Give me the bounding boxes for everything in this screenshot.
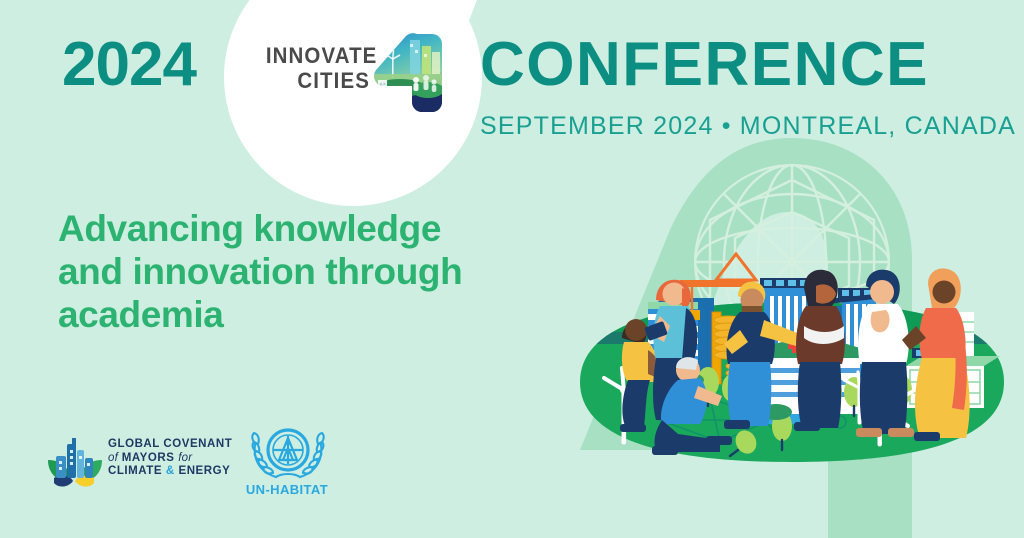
headline-line-3: academia bbox=[58, 293, 558, 336]
gcom-mayors: MAYORS bbox=[122, 452, 175, 464]
innovate-cities-4-logo: INNOVATE CITIES bbox=[258, 38, 438, 116]
page-title: CONFERENCE bbox=[480, 34, 929, 96]
un-habitat-mark-icon bbox=[246, 422, 330, 482]
logo-wordmark: INNOVATE CITIES bbox=[266, 43, 370, 93]
gcom-line-2: of MAYORS for bbox=[108, 452, 232, 466]
headline-line-2: and innovation through bbox=[58, 250, 558, 293]
gcom-of: of bbox=[108, 452, 118, 464]
un-habitat-label: UN-HABITAT bbox=[232, 482, 342, 497]
headline: Advancing knowledge and innovation throu… bbox=[58, 207, 558, 336]
logo-wordmark-line2: CITIES bbox=[266, 68, 370, 93]
sustainable-city-illustration bbox=[560, 120, 1024, 538]
gcom-amp: & bbox=[166, 465, 175, 477]
logo-numeral-four-icon bbox=[370, 28, 442, 120]
headline-line-1: Advancing knowledge bbox=[58, 207, 558, 250]
gcom-line-1: GLOBAL COVENANT bbox=[108, 438, 232, 452]
gcom-energy: ENERGY bbox=[178, 465, 230, 477]
logo-wordmark-line1: INNOVATE bbox=[266, 43, 370, 68]
conference-banner: 2024 INNOVATE CITIES bbox=[0, 0, 1024, 538]
un-habitat-logo: UN-HABITAT bbox=[232, 422, 342, 502]
global-covenant-wordmark: GLOBAL COVENANT of MAYORS for CLIMATE & … bbox=[108, 438, 232, 479]
global-covenant-of-mayors-logo: GLOBAL COVENANT of MAYORS for CLIMATE & … bbox=[46, 430, 216, 496]
year-label: 2024 bbox=[62, 34, 196, 96]
global-covenant-mark-icon bbox=[46, 430, 104, 492]
gcom-line-3: CLIMATE & ENERGY bbox=[108, 465, 232, 479]
gcom-for: for bbox=[178, 452, 192, 464]
gcom-climate: CLIMATE bbox=[108, 465, 162, 477]
